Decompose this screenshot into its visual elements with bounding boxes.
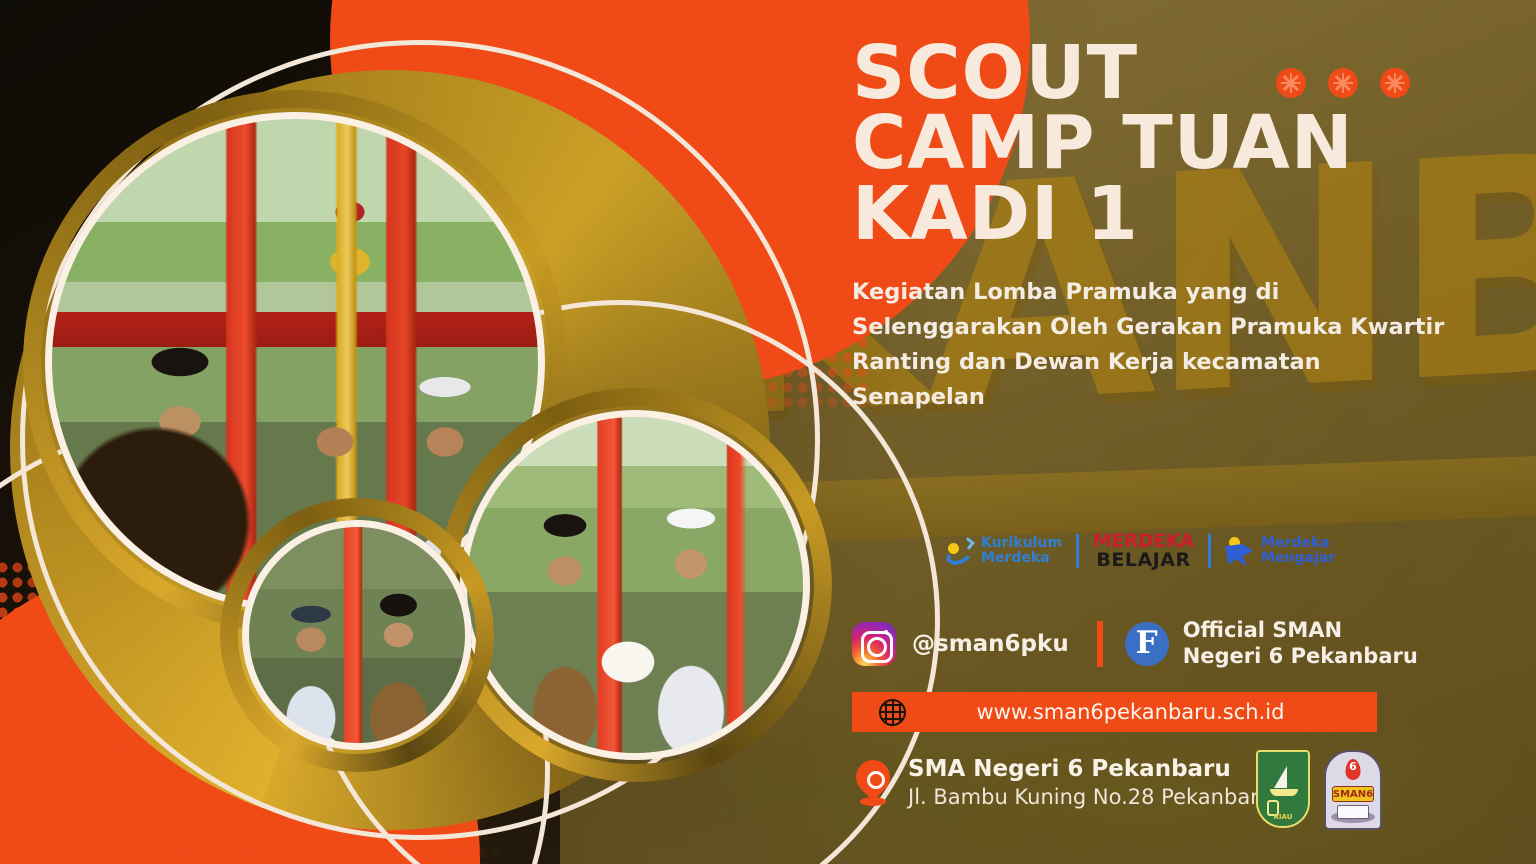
event-description: Kegiatan Lomba Pramuka yang di Selenggar… (852, 275, 1452, 415)
website-url[interactable]: www.sman6pekanbaru.sch.id (906, 700, 1355, 724)
mb-line-2: BELAJAR (1093, 551, 1194, 570)
certificate-thumbsup-photo-frame (242, 520, 472, 750)
location-pin-icon (856, 760, 890, 806)
kurikulum-merdeka-logo: Kurikulum Merdeka (946, 536, 1062, 565)
facebook-line-1: Official SMAN (1183, 618, 1418, 644)
facebook-icon[interactable]: F (1125, 622, 1169, 666)
kurikulum-merdeka-icon (946, 537, 974, 565)
certificate-thumbsup-photo-image (242, 520, 472, 750)
address-row: SMA Negeri 6 Pekanbaru Jl. Bambu Kuning … (852, 756, 1272, 810)
certificate-thumbsup-photo (242, 520, 472, 750)
certificate-handover-photo (460, 410, 810, 760)
content-column: SCOUT CAMP TUAN KADI 1 Kegiatan Lomba Pr… (852, 0, 1452, 864)
merdeka-mengajar-icon (1225, 536, 1255, 566)
accent-star-dot-icon (1328, 68, 1358, 98)
social-media-row: @sman6pku F Official SMAN Negeri 6 Pekan… (852, 618, 1418, 669)
school-emblem-label: SMAN6 (1332, 786, 1374, 802)
merdeka-mengajar-logo: Merdeka Mengajar (1225, 536, 1335, 566)
poster-canvas: KANBARU SCOUT CAMP TUAN (0, 0, 1536, 864)
km-line-1: Kurikulum (981, 536, 1062, 551)
merdeka-belajar-logo: MERDEKA BELAJAR (1093, 532, 1194, 570)
school-name: SMA Negeri 6 Pekanbaru (908, 756, 1272, 784)
mm-line-1: Merdeka (1261, 536, 1335, 551)
accent-star-dot-icon (1380, 68, 1410, 98)
website-bar[interactable]: www.sman6pekanbaru.sch.id (852, 692, 1377, 732)
title-line-3: KADI 1 (852, 179, 1452, 249)
mm-line-2: Mengajar (1261, 551, 1335, 566)
instagram-icon[interactable] (852, 622, 896, 666)
sman6-school-emblem: 6 SMAN6 (1324, 750, 1382, 830)
riau-emblem-label: RIAU (1258, 813, 1308, 821)
school-emblem-number: 6 (1349, 761, 1357, 772)
riau-province-emblem: RIAU (1256, 750, 1310, 828)
accent-star-dot-icon (1276, 68, 1306, 98)
social-separator (1097, 621, 1103, 667)
logo-divider (1076, 534, 1079, 568)
address-text: SMA Negeri 6 Pekanbaru Jl. Bambu Kuning … (908, 756, 1272, 810)
facebook-page-name[interactable]: Official SMAN Negeri 6 Pekanbaru (1183, 618, 1418, 669)
accent-dots-group (1276, 68, 1410, 98)
merdeka-mengajar-label: Merdeka Mengajar (1261, 536, 1335, 565)
km-line-2: Merdeka (981, 551, 1062, 566)
description-line-3: Ranting dan Dewan Kerja kecamatan Senape… (852, 345, 1452, 415)
certificate-handover-photo-image (460, 410, 810, 760)
school-street: Jl. Bambu Kuning No.28 Pekanbaru (908, 784, 1272, 810)
certificate-handover-photo-frame (460, 410, 810, 760)
kurikulum-merdeka-label: Kurikulum Merdeka (981, 536, 1062, 565)
facebook-line-2: Negeri 6 Pekanbaru (1183, 644, 1418, 670)
globe-icon (879, 699, 906, 726)
description-line-1: Kegiatan Lomba Pramuka yang di (852, 275, 1452, 310)
title-line-2: CAMP TUAN (852, 108, 1452, 178)
logo-divider (1208, 534, 1211, 568)
instagram-handle[interactable]: @sman6pku (912, 631, 1069, 657)
program-logos-strip: Kurikulum Merdeka MERDEKA BELAJAR Merdek… (946, 532, 1335, 570)
description-line-2: Selenggarakan Oleh Gerakan Pramuka Kwart… (852, 310, 1452, 345)
emblems-group: RIAU 6 SMAN6 (1256, 750, 1382, 830)
